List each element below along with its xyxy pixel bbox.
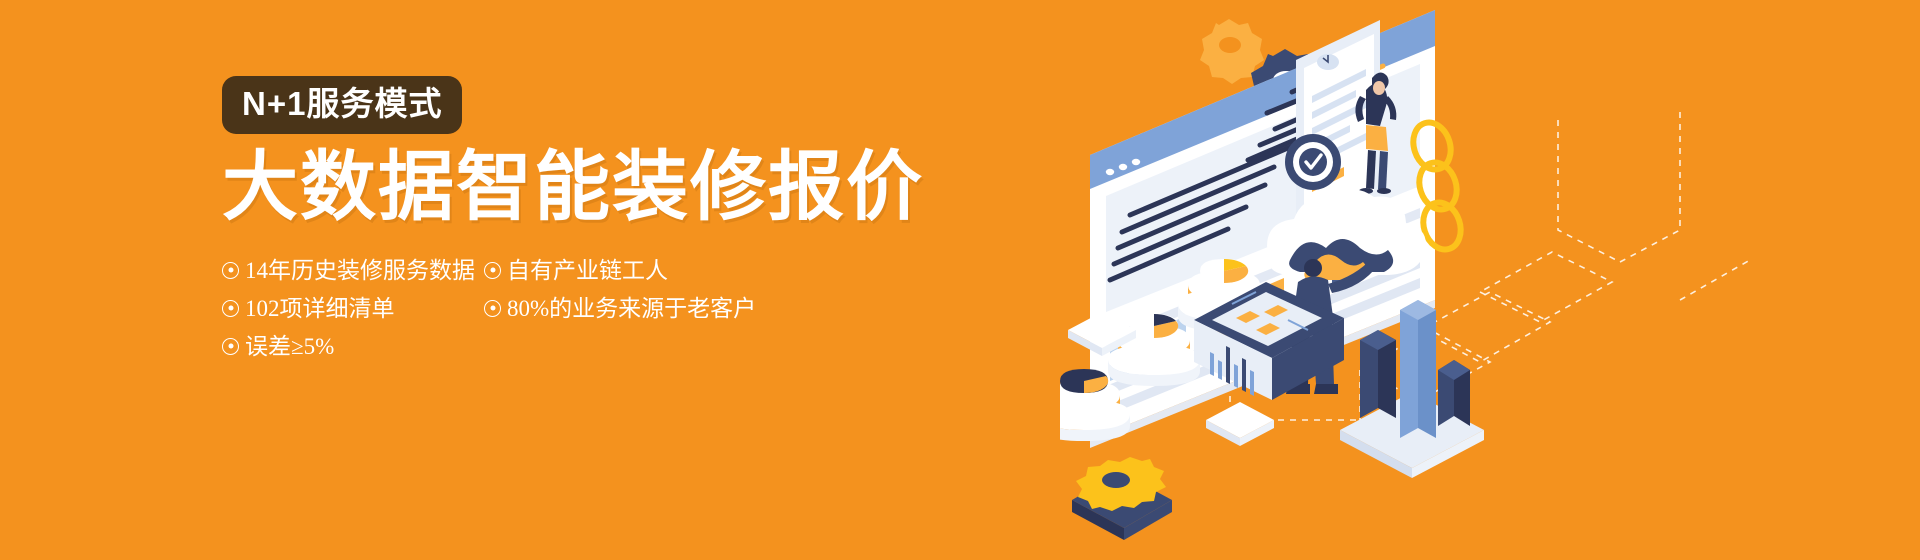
list-item: 14年历史装修服务数据 bbox=[222, 259, 484, 282]
promo-banner: N+1服务模式 大数据智能装修报价 14年历史装修服务数据 自有产业链工人 10… bbox=[0, 0, 1920, 560]
bullet-dot-icon bbox=[222, 338, 239, 355]
list-item: 80%的业务来源于老客户 bbox=[484, 297, 782, 320]
feature-label: 14年历史装修服务数据 bbox=[245, 259, 475, 282]
big-data-isometric-illustration bbox=[1060, 0, 1920, 560]
feature-label: 误差≥5% bbox=[245, 335, 334, 358]
gear-orange-icon bbox=[1072, 457, 1172, 540]
bullet-dot-icon bbox=[222, 300, 239, 317]
floating-plate bbox=[1206, 402, 1274, 446]
feature-list: 14年历史装修服务数据 自有产业链工人 102项详细清单 80%的业务来源于老客… bbox=[222, 251, 782, 365]
bullet-dot-icon bbox=[484, 300, 501, 317]
feature-label: 102项详细清单 bbox=[245, 297, 395, 320]
feature-label: 自有产业链工人 bbox=[507, 259, 668, 282]
service-model-badge: N+1服务模式 bbox=[222, 76, 462, 134]
feature-label: 80%的业务来源于老客户 bbox=[507, 297, 756, 320]
list-item: 误差≥5% bbox=[222, 335, 484, 358]
check-badge-icon bbox=[1285, 134, 1341, 190]
list-item: 自有产业链工人 bbox=[484, 259, 782, 282]
list-item: 102项详细清单 bbox=[222, 297, 484, 320]
page-title: 大数据智能装修报价 bbox=[222, 148, 922, 227]
banner-text-block: N+1服务模式 大数据智能装修报价 14年历史装修服务数据 自有产业链工人 10… bbox=[222, 76, 922, 365]
bullet-dot-icon bbox=[484, 262, 501, 279]
bullet-dot-icon bbox=[222, 262, 239, 279]
